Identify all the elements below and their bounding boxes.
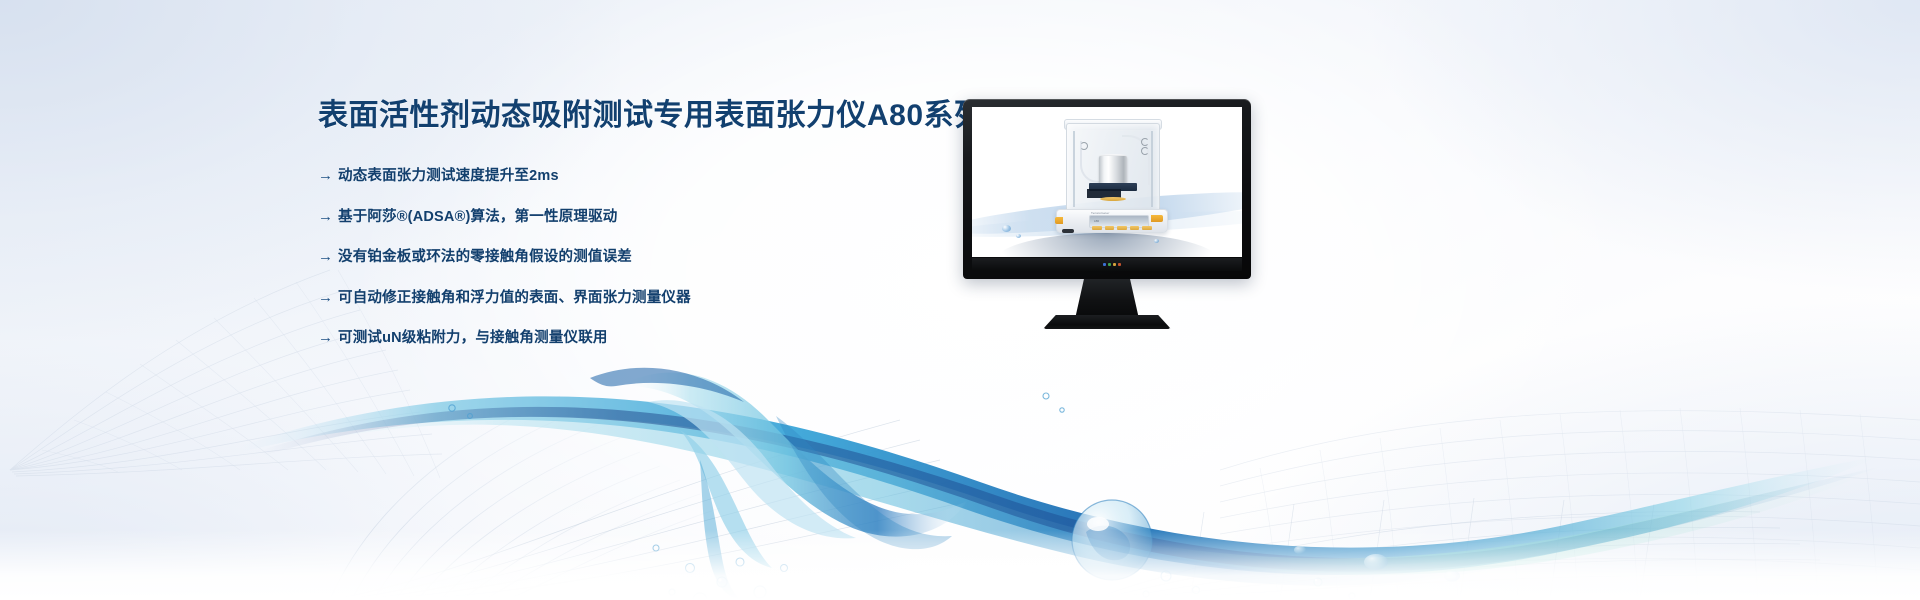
list-item-label: 可测试uN级粘附力，与接触角测量仪联用 [338,329,608,347]
water-droplet [1016,234,1021,238]
monitor-screen: Tensiometer A80 [972,107,1242,257]
monitor-stand-neck [1075,279,1139,319]
indicator-green [1108,263,1111,266]
keypad-key[interactable] [1130,226,1140,230]
indicator-red [1118,263,1121,266]
desktop-monitor: Tensiometer A80 [963,99,1251,321]
list-item: → 没有铂金板或环法的零接触角假设的测值误差 [318,248,958,266]
keypad-key[interactable] [1142,226,1152,230]
side-latch-right [1151,215,1163,222]
keypad-key[interactable] [1117,226,1127,230]
monitor-indicator-lights [1103,263,1121,266]
water-droplet [1002,225,1011,232]
list-item-label: 可自动修正接触角和浮力值的表面、界面张力测量仪器 [338,289,691,307]
list-item: → 动态表面张力测试速度提升至2ms [318,167,958,185]
arrow-right-icon: → [318,289,338,307]
keypad-key[interactable] [1105,226,1115,230]
tensiometer-instrument: Tensiometer A80 [1056,123,1166,241]
list-item: → 可自动修正接触角和浮力值的表面、界面张力测量仪器 [318,289,958,307]
water-droplet [1154,239,1159,243]
hero-banner: 表面活性剂动态吸附测试专用表面张力仪A80系列 → 动态表面张力测试速度提升至2… [0,0,1920,600]
side-latch-left [1055,217,1063,224]
list-item-label: 动态表面张力测试速度提升至2ms [338,167,559,185]
port-knob-a [1141,138,1149,146]
instrument-keypad [1092,226,1152,230]
monitor-bezel: Tensiometer A80 [963,99,1251,279]
port-knob-b [1141,147,1149,155]
list-item: → 基于阿莎®(ADSA®)算法，第一性原理驱动 [318,208,958,226]
instrument-display-value: A80 [1094,219,1140,222]
list-item-label: 基于阿莎®(ADSA®)算法，第一性原理驱动 [338,208,618,226]
indicator-blue [1103,263,1106,266]
monitor-stand-base [1043,315,1171,329]
weighing-pan [1100,197,1126,201]
bottom-fade [0,530,1920,600]
list-item: → 可测试uN级粘附力，与接触角测量仪联用 [318,329,958,347]
background-tint-top-right [1360,0,1920,300]
chamber-edge-right [1151,131,1153,207]
sample-cylinder [1099,156,1127,184]
instrument-foot [1062,229,1074,233]
indicator-amber [1113,263,1116,266]
monitor-chin [972,258,1242,271]
hero-text-block: 表面活性剂动态吸附测试专用表面张力仪A80系列 → 动态表面张力测试速度提升至2… [318,96,958,370]
arrow-right-icon: → [318,329,338,347]
feature-list: → 动态表面张力测试速度提升至2ms → 基于阿莎®(ADSA®)算法，第一性原… [318,167,958,347]
keypad-key[interactable] [1092,226,1102,230]
chamber-edge-left [1073,131,1075,207]
arrow-right-icon: → [318,248,338,266]
page-title: 表面活性剂动态吸附测试专用表面张力仪A80系列 [318,96,958,136]
arrow-right-icon: → [318,208,338,226]
port-knob-c [1080,142,1088,150]
arrow-right-icon: → [318,167,338,185]
list-item-label: 没有铂金板或环法的零接触角假设的测值误差 [338,248,632,266]
